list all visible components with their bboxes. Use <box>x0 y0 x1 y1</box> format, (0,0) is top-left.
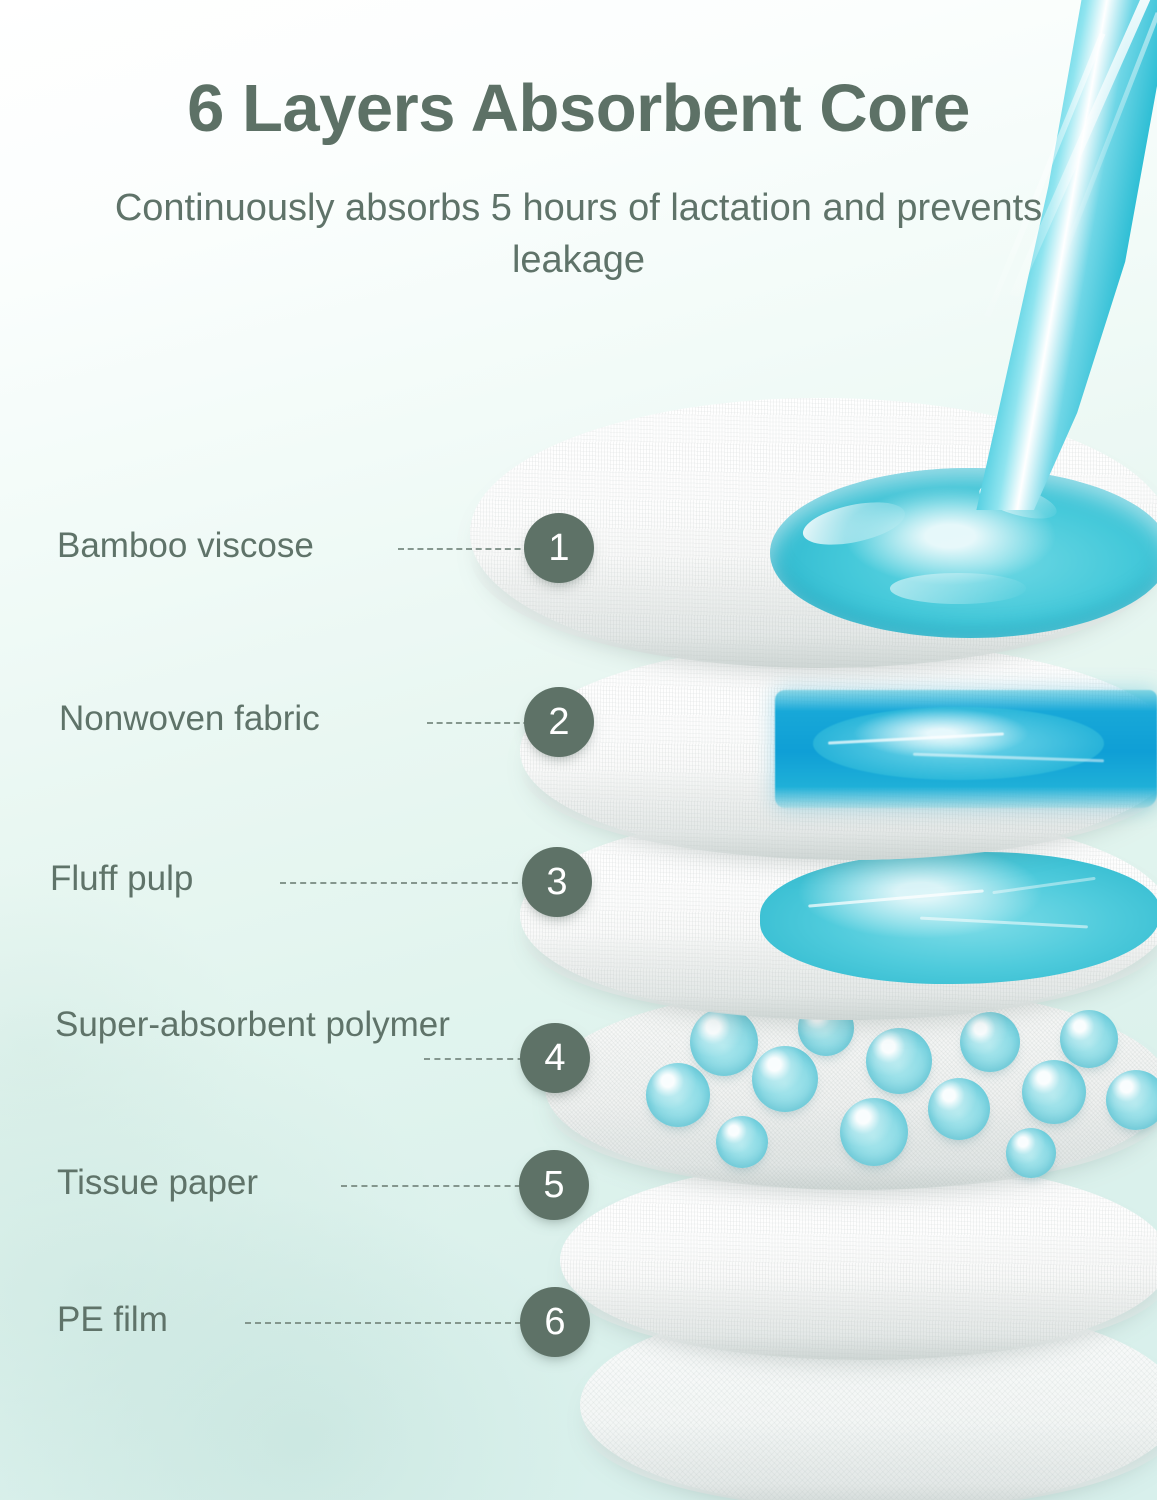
sap-bead <box>716 1116 768 1168</box>
pad-layer-5-tissue-paper <box>560 1160 1157 1360</box>
pad-layer-3-fluff-pulp <box>520 810 1157 1020</box>
layer-label-tissue-paper: Tissue paper <box>57 1162 258 1205</box>
liquid-ripple <box>829 733 1005 745</box>
page-subtitle: Continuously absorbs 5 hours of lactatio… <box>99 182 1059 287</box>
layer-label-bamboo-viscose: Bamboo viscose <box>57 525 314 568</box>
absorbed-liquid-layer-3 <box>760 852 1157 984</box>
sap-bead <box>866 1028 932 1094</box>
sap-bead <box>1106 1070 1157 1130</box>
leader-line-2 <box>427 722 539 724</box>
leader-line-5 <box>341 1185 531 1187</box>
sap-bead <box>928 1078 990 1140</box>
layer-badge-1[interactable]: 1 <box>524 513 594 583</box>
disc-rim <box>560 1276 1157 1360</box>
sap-bead <box>960 1012 1020 1072</box>
layer-badge-5[interactable]: 5 <box>519 1150 589 1220</box>
liquid-gel-highlight <box>813 707 1103 780</box>
layer-label-nonwoven-fabric: Nonwoven fabric <box>59 698 320 741</box>
layer-badge-6[interactable]: 6 <box>520 1287 590 1357</box>
sap-bead <box>1060 1010 1118 1068</box>
layer-label-pe-film: PE film <box>57 1299 168 1342</box>
leader-line-4 <box>424 1058 534 1060</box>
disc-rim <box>520 932 1157 1020</box>
sap-bead <box>1006 1128 1056 1178</box>
water-glint <box>799 495 909 553</box>
layer-label-fluff-pulp: Fluff pulp <box>50 858 193 901</box>
infographic-page: 6 Layers Absorbent Core Continuously abs… <box>0 0 1157 1500</box>
disc-rim <box>580 1422 1157 1500</box>
disc-rim <box>520 768 1157 860</box>
liquid-ripple <box>920 916 1088 928</box>
water-pool-on-top-layer <box>770 468 1157 638</box>
pad-layer-6-pe-film <box>580 1300 1157 1500</box>
liquid-ripple <box>992 876 1095 893</box>
sap-bead <box>840 1098 908 1166</box>
disc-rim <box>545 1104 1157 1190</box>
leader-line-6 <box>245 1322 531 1324</box>
sap-bead <box>690 1008 758 1076</box>
sap-bead <box>798 1000 854 1056</box>
leader-line-1 <box>398 548 540 550</box>
pad-layer-4-sap-bed <box>545 985 1157 1190</box>
water-glint <box>890 573 1026 604</box>
layer-badge-3[interactable]: 3 <box>522 847 592 917</box>
absorbed-liquid-layer-2 <box>775 690 1157 808</box>
liquid-ripple <box>808 889 984 907</box>
water-glint <box>976 478 1060 526</box>
layer-badge-4[interactable]: 4 <box>520 1023 590 1093</box>
pad-layer-2-nonwoven-fabric <box>520 642 1157 860</box>
layer-label-super-absorbent-polymer: Super-absorbent polymer <box>55 1004 475 1047</box>
sap-bead <box>1022 1060 1086 1124</box>
liquid-ripple <box>913 753 1104 763</box>
sap-bead <box>646 1063 710 1127</box>
leader-line-3 <box>280 882 538 884</box>
layer-badge-2[interactable]: 2 <box>524 687 594 757</box>
page-title: 6 Layers Absorbent Core <box>0 74 1157 144</box>
sap-bead <box>752 1046 818 1112</box>
